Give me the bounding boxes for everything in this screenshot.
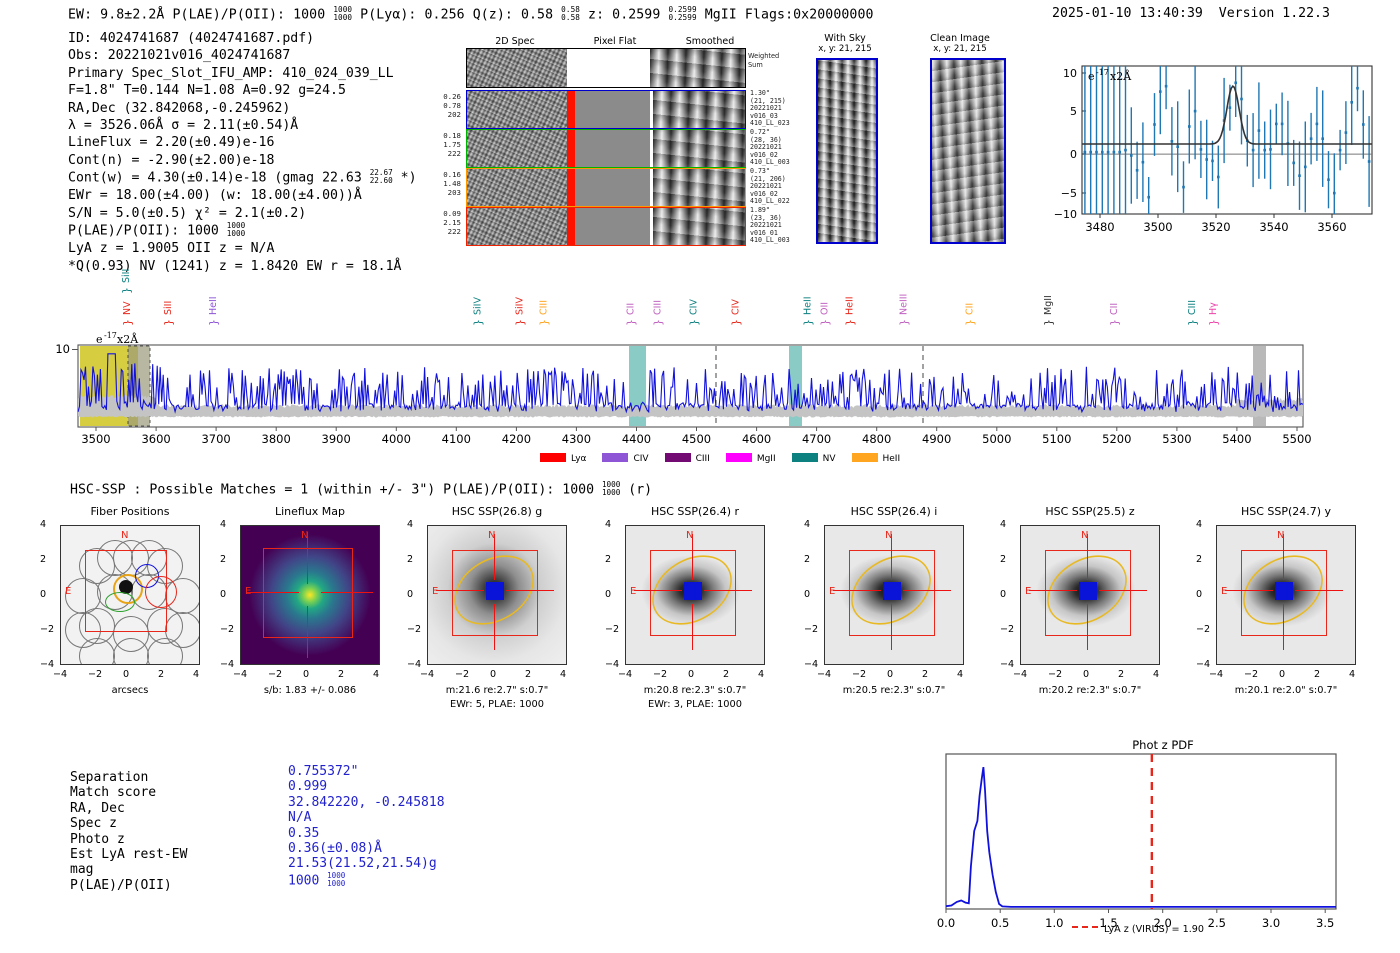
svg-text:5400: 5400 [1222, 432, 1251, 446]
cutout-x-tick: −2 [455, 669, 469, 680]
fiber-row-3-left: 0.092.15222 [419, 209, 461, 237]
legend-item: Lyα [540, 453, 586, 464]
cutout-caption-1: m:20.8 re:2.3" s:0.7" [600, 685, 790, 696]
cutout-x-tick: 2 [158, 669, 164, 680]
table-value: N/A [288, 810, 445, 825]
clean-image-title: Clean Image x, y: 21, 215 [900, 33, 1020, 55]
svg-text:}: } [818, 319, 831, 326]
svg-text:}: } [471, 319, 484, 326]
cutout-y-tick: 4 [1000, 519, 1006, 530]
cutout-x-tick: −4 [1013, 669, 1027, 680]
svg-text:5500: 5500 [1282, 432, 1311, 446]
svg-text:CIII: CIII [538, 300, 549, 315]
svg-text:3500: 3500 [81, 432, 110, 446]
svg-text:5200: 5200 [1102, 432, 1131, 446]
svg-text:}: } [162, 319, 175, 326]
cutout-caption-2: EWr: 3, PLAE: 1000 [600, 699, 790, 710]
svg-text:-17: -17 [104, 331, 117, 340]
table-row: Spec z [70, 816, 187, 831]
info-redshifts: LyA z = 1.9005 OII z = N/A [68, 240, 417, 257]
fiber-row-0-meta: 1.30"(21, 215)20221021v016_03410_LL_023 [750, 90, 810, 128]
match-table-values: 0.755372" 0.999 32.842220, -0.245818 N/A… [288, 764, 445, 889]
full-spectrum-panel: SiII}NV}SiII}HeII}SiIV}SiIV}CIII}CII}CII… [0, 275, 1400, 475]
cutout-title: HSC SSP(26.8) g [402, 505, 592, 518]
cutout-y-tick: 2 [40, 554, 46, 565]
cutout-y-tick: −2 [605, 624, 619, 635]
cutout-image-6[interactable]: N E [1216, 525, 1356, 665]
cutout-x-tick: −2 [268, 669, 282, 680]
fiber-row-2-image [466, 168, 746, 207]
cutout-x-tick: −2 [1244, 669, 1258, 680]
svg-text:NeIII: NeIII [899, 294, 910, 315]
svg-text:3600: 3600 [141, 432, 170, 446]
cutout-x-tick: 0 [887, 669, 893, 680]
info-lambda-sigma: λ = 3526.06Å σ = 2.11(±0.54)Å [68, 117, 417, 134]
hscssp-heading: HSC-SSP : Possible Matches = 1 (within +… [70, 481, 652, 498]
svg-text:}: } [1042, 319, 1055, 326]
table-value: 1000 10001000 [288, 872, 445, 889]
cutout-x-tick: 0 [303, 669, 309, 680]
info-obs: Obs: 20221021v016_4024741687 [68, 47, 417, 64]
svg-text:4800: 4800 [862, 432, 891, 446]
svg-text:}: } [207, 319, 220, 326]
cutout-y-tick: 2 [220, 554, 226, 565]
svg-text:CII: CII [626, 303, 637, 315]
cutout-caption-1: m:21.6 re:2.7" s:0.7" [402, 685, 592, 696]
phot-z-pdf-title: Phot z PDF [928, 738, 1398, 752]
cutout-image-1[interactable]: N E [240, 525, 380, 665]
svg-text:0: 0 [1070, 148, 1077, 161]
header-plae-fraction: 10001000 [333, 6, 352, 22]
cutout-x-tick: 4 [373, 669, 379, 680]
info-plae-fraction: 10001000 [227, 222, 245, 238]
svg-text:}: } [652, 319, 665, 326]
weighted-sum-label: WeightedSum [748, 52, 779, 70]
svg-text:e: e [96, 333, 103, 346]
cutout-image-3[interactable]: N E [625, 525, 765, 665]
table-value: 0.36(±0.08)Å [288, 841, 445, 856]
compass-n-label: N [686, 530, 693, 541]
cutout-x-tick: −4 [817, 669, 831, 680]
cutout-x-tick: 4 [758, 669, 764, 680]
cutout-x-tick: 2 [1118, 669, 1124, 680]
cutout-x-tick: 0 [1279, 669, 1285, 680]
svg-text:3500: 3500 [1143, 220, 1172, 234]
svg-text:10: 10 [55, 342, 70, 356]
svg-text:}: } [625, 319, 638, 326]
compass-n-label: N [1081, 530, 1088, 541]
fiber-row-0-image [466, 90, 746, 129]
cutout-x-tick: 4 [193, 669, 199, 680]
svg-text:−5: −5 [1061, 187, 1077, 200]
table-row: Est LyA rest-EW [70, 847, 187, 862]
legend-swatch-nv [792, 453, 818, 462]
cutout-y-tick: 4 [40, 519, 46, 530]
table-plae-fraction: 10001000 [327, 872, 345, 887]
compass-e-label: E [432, 586, 438, 597]
cutout-x-tick: −2 [653, 669, 667, 680]
legend-swatch-lya-z [1072, 926, 1098, 928]
cutout-caption-1: m:20.5 re:2.3" s:0.7" [799, 685, 989, 696]
cutout-x-tick: −2 [852, 669, 866, 680]
table-value: 0.999 [288, 779, 445, 794]
weighted-sum-strip [466, 48, 746, 88]
svg-text:5300: 5300 [1162, 432, 1191, 446]
match-table-labels: Separation Match score RA, Dec Spec z Ph… [70, 770, 187, 893]
fiber-row-1-image [466, 129, 746, 168]
line-fit-plot: 105 0−5−10 34803500 352035403560 e -17 x… [1040, 58, 1385, 248]
cutout-x-tick: 4 [560, 669, 566, 680]
cutout-y-tick: 4 [220, 519, 226, 530]
svg-text:NV: NV [122, 301, 133, 315]
svg-text:4900: 4900 [922, 432, 951, 446]
info-seeing: F=1.8" T=0.144 N=1.08 A=0.92 g=24.5 [68, 82, 417, 99]
cutout-y-tick: −2 [407, 624, 421, 635]
cutout-title: HSC SSP(26.4) i [799, 505, 989, 518]
hscssp-plae-fraction: 10001000 [602, 481, 620, 497]
svg-text:4100: 4100 [442, 432, 471, 446]
svg-text:CIII: CIII [653, 300, 664, 315]
cutout-caption-1: s/b: 1.83 +/- 0.086 [215, 685, 405, 696]
header-datetime: 2025-01-10 13:40:39 [1052, 6, 1203, 21]
info-lineflux: LineFlux = 2.20(±0.49)e-16 [68, 134, 417, 151]
svg-text:}: } [1108, 319, 1121, 326]
svg-text:x2Å: x2Å [1110, 69, 1132, 83]
svg-text:}: } [1186, 319, 1199, 326]
info-cont-n: Cont(n) = -2.90(±2.00)e-18 [68, 152, 417, 169]
spectrum-legend: LyαCIVCIIIMgIINVHeII [540, 453, 916, 464]
cutout-caption-1: m:20.1 re:2.0" s:0.7" [1191, 685, 1381, 696]
cutout-y-tick: 4 [605, 519, 611, 530]
header-summary-line: EW: 9.8±2.2Å P(LAE)/P(OII): 1000 1000100… [68, 6, 874, 23]
clean-image-cutout [930, 58, 1006, 244]
cutout-x-tick: 4 [1153, 669, 1159, 680]
cutout-x-tick: 2 [338, 669, 344, 680]
cutout-y-tick: 2 [1196, 554, 1202, 565]
panel-title-smoothed: Smoothed [665, 36, 755, 47]
svg-text:MgII: MgII [1043, 295, 1054, 315]
svg-text:3900: 3900 [322, 432, 351, 446]
svg-text:4200: 4200 [502, 432, 531, 446]
svg-text:HeII: HeII [845, 296, 856, 315]
table-row: RA, Dec [70, 801, 187, 816]
svg-text:HeII: HeII [208, 296, 219, 315]
compass-n-label: N [885, 530, 892, 541]
svg-text:Hγ: Hγ [1208, 302, 1219, 315]
table-row: P(LAE)/P(OII) [70, 878, 187, 893]
cutout-x-tick: −2 [88, 669, 102, 680]
header-version: Version 1.22.3 [1219, 6, 1330, 21]
svg-text:}: } [898, 319, 911, 326]
legend-item: CIII [665, 453, 710, 464]
info-id: ID: 4024741687 (4024741687.pdf) [68, 30, 417, 47]
cutout-y-tick: 0 [1196, 589, 1202, 600]
svg-text:}: } [121, 319, 134, 326]
legend-item: CIV [602, 453, 648, 464]
info-primary-spec: Primary Spec_Slot_IFU_AMP: 410_024_039_L… [68, 65, 417, 82]
svg-text:4600: 4600 [742, 432, 771, 446]
svg-text:OII: OII [819, 302, 830, 315]
svg-text:-17: -17 [1096, 68, 1109, 77]
cutout-x-tick: 4 [1349, 669, 1355, 680]
cutout-y-tick: 0 [1000, 589, 1006, 600]
compass-n-label: N [301, 530, 308, 541]
cutout-x-tick: −4 [420, 669, 434, 680]
cutout-x-tick: 0 [490, 669, 496, 680]
header-z: z: 0.2599 [588, 8, 668, 23]
cutout-x-tick: 4 [957, 669, 963, 680]
header-ew-plae: EW: 9.8±2.2Å P(LAE)/P(OII): 1000 [68, 8, 333, 23]
svg-text:}: } [802, 319, 815, 326]
info-radec: RA,Dec (32.842068,-0.245962) [68, 100, 417, 117]
fiber-row-2-left: 0.161.48203 [419, 170, 461, 198]
panel-title-pixel-flat: Pixel Flat [570, 36, 660, 47]
compass-n-label: N [121, 530, 128, 541]
svg-text:}: } [1207, 319, 1220, 326]
cutout-y-tick: 2 [804, 554, 810, 565]
legend-item: NV [792, 453, 836, 464]
cutout-x-tick: 2 [922, 669, 928, 680]
panel-title-2d-spec: 2D Spec [470, 36, 560, 47]
cutout-y-tick: −2 [40, 624, 54, 635]
phot-z-legend: LyA z (VIRUS) = 1.90 [928, 924, 1348, 935]
svg-text:CII: CII [965, 303, 976, 315]
svg-text:e: e [1088, 70, 1095, 83]
cutout-y-tick: 4 [1196, 519, 1202, 530]
svg-text:SiIV: SiIV [514, 297, 525, 315]
fiber-row-1-left: 0.181.75222 [419, 131, 461, 159]
table-row: Match score [70, 785, 187, 800]
cutout-x-tick: 0 [1083, 669, 1089, 680]
info-sn-chi2: S/N = 5.0(±0.5) χ² = 2.1(±0.2) [68, 205, 417, 222]
svg-text:10: 10 [1063, 67, 1077, 80]
svg-text:3560: 3560 [1317, 220, 1346, 234]
cutout-x-tick: −2 [1048, 669, 1062, 680]
table-value: 0.755372" [288, 764, 445, 779]
fiber-row-1-meta: 0.72"(28, 36)20221021v016_02410_LL_003 [750, 129, 810, 167]
detection-info-block: ID: 4024741687 (4024741687.pdf) Obs: 202… [68, 30, 417, 275]
with-sky-title: With Sky x, y: 21, 215 [790, 33, 900, 55]
svg-text:SiIV: SiIV [472, 297, 483, 315]
svg-text:SiII: SiII [163, 301, 174, 315]
header-mgii-flags: MgII Flags:0x20000000 [705, 8, 874, 23]
cutout-y-tick: 0 [407, 589, 413, 600]
compass-n-label: N [1277, 530, 1284, 541]
fiber-row-3-meta: 1.89"(23, 36)20221021v016_01410_LL_003 [750, 207, 810, 245]
gmag-fraction: 22.6722.60 [370, 169, 393, 185]
table-value: 32.842220, -0.245818 [288, 795, 445, 810]
table-row: Photo z [70, 832, 187, 847]
compass-e-label: E [65, 586, 71, 597]
compass-e-label: E [245, 586, 251, 597]
with-sky-cutout [816, 58, 878, 244]
cutout-y-tick: 4 [804, 519, 810, 530]
svg-text:4400: 4400 [622, 432, 651, 446]
fiber-row-0-left: 0.260.78202 [419, 92, 461, 120]
info-ewr: EWr = 18.00(±4.00) (w: 18.00(±4.00))Å [68, 187, 417, 204]
legend-item: HeII [852, 453, 901, 464]
cutout-x-tick: 0 [123, 669, 129, 680]
svg-text:4300: 4300 [562, 432, 591, 446]
svg-text:3800: 3800 [262, 432, 291, 446]
phot-z-pdf-panel: Phot z PDF 0.00.51.01.52.02.53.03.5 LyA … [928, 738, 1398, 948]
svg-text:4700: 4700 [802, 432, 831, 446]
svg-text:}: } [537, 319, 550, 326]
svg-text:5000: 5000 [982, 432, 1011, 446]
cutout-x-tick: −4 [1209, 669, 1223, 680]
cutout-y-tick: 2 [1000, 554, 1006, 565]
cutout-title: Lineflux Map [215, 505, 405, 518]
cutout-x-tick: 2 [723, 669, 729, 680]
info-cont-w: Cont(w) = 4.30(±0.14)e-18 (gmag 22.63 22… [68, 169, 417, 187]
cutout-y-tick: 0 [804, 589, 810, 600]
svg-text:CII: CII [1109, 303, 1120, 315]
cutout-y-tick: −2 [1000, 624, 1014, 635]
cutout-row: Fiber Positions N E −4−2024−4−2024arcsec… [0, 505, 1400, 740]
cutout-x-tick: 2 [525, 669, 531, 680]
table-row: mag [70, 862, 187, 877]
table-row: Separation [70, 770, 187, 785]
svg-text:−10: −10 [1054, 208, 1077, 221]
svg-text:x2Å: x2Å [117, 332, 139, 346]
cutout-x-tick: 0 [688, 669, 694, 680]
table-value: 21.53(21.52,21.54)g [288, 856, 445, 871]
header-plya-qz: P(Lyα): 0.256 Q(z): 0.58 [360, 8, 561, 23]
svg-text:}: } [513, 319, 526, 326]
legend-swatch-mgii [726, 453, 752, 462]
cutout-image-4[interactable]: N E [824, 525, 964, 665]
cutout-y-tick: 2 [605, 554, 611, 565]
cutout-x-tick: −4 [53, 669, 67, 680]
svg-text:}: } [730, 319, 743, 326]
cutout-x-tick: −4 [618, 669, 632, 680]
legend-swatch-heii [852, 453, 878, 462]
cutout-y-tick: −2 [220, 624, 234, 635]
svg-text:HeII: HeII [803, 296, 814, 315]
header-meta: 2025-01-10 13:40:39 Version 1.22.3 [1052, 6, 1330, 21]
cutout-image-2[interactable]: N E [427, 525, 567, 665]
legend-item: MgII [726, 453, 776, 464]
svg-text:5100: 5100 [1042, 432, 1071, 446]
svg-text:}: } [688, 319, 701, 326]
info-plae: P(LAE)/P(OII): 1000 10001000 [68, 222, 417, 240]
cutout-image-0[interactable]: N E [60, 525, 200, 665]
svg-text:3480: 3480 [1085, 220, 1114, 234]
header-z-fraction: 0.25990.2599 [668, 6, 696, 22]
compass-e-label: E [1025, 586, 1031, 597]
svg-text:3520: 3520 [1201, 220, 1230, 234]
compass-e-label: E [829, 586, 835, 597]
fiber-row-3-image [466, 207, 746, 246]
cutout-y-tick: −2 [1196, 624, 1210, 635]
svg-text:}: } [844, 319, 857, 326]
cutout-y-tick: −2 [804, 624, 818, 635]
svg-text:4500: 4500 [682, 432, 711, 446]
cutout-y-tick: 0 [220, 589, 226, 600]
cutout-y-tick: 4 [407, 519, 413, 530]
cutout-image-5[interactable]: N E [1020, 525, 1160, 665]
svg-text:3700: 3700 [201, 432, 230, 446]
cutout-x-tick: 2 [1314, 669, 1320, 680]
svg-text:CIV: CIV [689, 299, 700, 315]
cutout-caption-2: EWr: 5, PLAE: 1000 [402, 699, 592, 710]
cutout-caption-1: m:20.2 re:2.3" s:0.7" [995, 685, 1185, 696]
compass-e-label: E [630, 586, 636, 597]
cutout-x-tick: −4 [233, 669, 247, 680]
svg-text:SiII: SiII [121, 269, 132, 283]
cutout-y-tick: 0 [605, 589, 611, 600]
cutout-caption-1: arcsecs [35, 685, 225, 696]
table-value: 0.35 [288, 826, 445, 841]
compass-n-label: N [488, 530, 495, 541]
cutout-title: HSC SSP(26.4) r [600, 505, 790, 518]
cutout-y-tick: 2 [407, 554, 413, 565]
fiber-row-2-meta: 0.73"(21, 206)20221021v016_02410_LL_022 [750, 168, 810, 206]
svg-text:4000: 4000 [382, 432, 411, 446]
cutout-title: HSC SSP(25.5) z [995, 505, 1185, 518]
compass-e-label: E [1221, 586, 1227, 597]
cutout-title: HSC SSP(24.7) y [1191, 505, 1381, 518]
legend-swatch-ciii [665, 453, 691, 462]
cutout-y-tick: 0 [40, 589, 46, 600]
svg-text:}: } [120, 287, 133, 294]
svg-text:}: } [964, 319, 977, 326]
svg-text:5: 5 [1070, 105, 1077, 118]
svg-text:CIV: CIV [731, 299, 742, 315]
svg-text:3540: 3540 [1259, 220, 1288, 234]
cutout-title: Fiber Positions [35, 505, 225, 518]
legend-swatch-civ [602, 453, 628, 462]
header-qz-fraction: 0.580.58 [561, 6, 580, 22]
svg-text:CIII: CIII [1187, 300, 1198, 315]
legend-swatch-lya [540, 453, 566, 462]
